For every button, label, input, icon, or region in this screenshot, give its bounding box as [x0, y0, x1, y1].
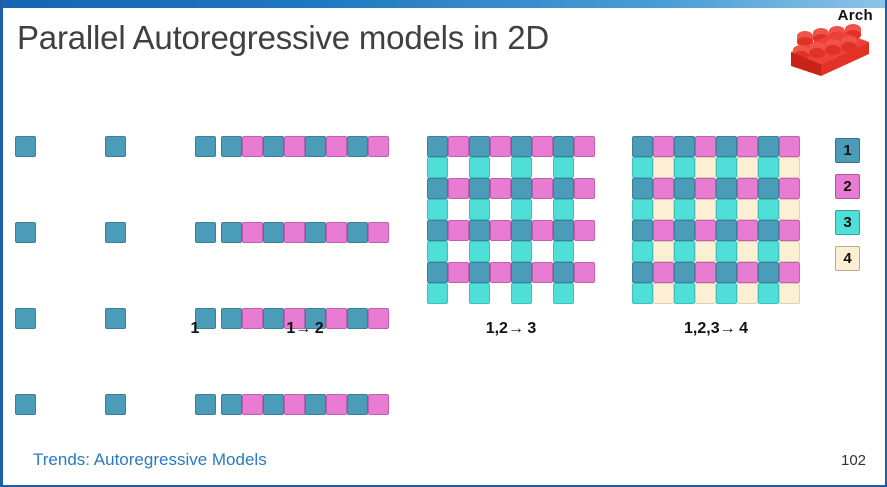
grid-cell	[653, 241, 674, 262]
grid-cell	[758, 199, 779, 220]
grid-cell	[221, 222, 242, 243]
grid-cell	[347, 394, 368, 415]
grid-cell	[105, 394, 126, 415]
grid-cell	[368, 394, 389, 415]
grid-cell	[469, 199, 490, 220]
grid-cell	[737, 157, 758, 178]
legend-item-label: 4	[843, 250, 851, 267]
grid-cell	[427, 262, 448, 283]
page-title: Parallel Autoregressive models in 2D	[17, 19, 717, 57]
grid-cell	[674, 199, 695, 220]
grid-cell	[632, 157, 653, 178]
grid-cell	[716, 178, 737, 199]
grid-cell	[469, 178, 490, 199]
grid-cell	[737, 283, 758, 304]
grid-cell	[674, 136, 695, 157]
grid-cell	[758, 283, 779, 304]
grid-cell	[737, 241, 758, 262]
grid-cell	[511, 262, 532, 283]
grid-cell	[305, 136, 326, 157]
grid-cell	[653, 283, 674, 304]
grid-cell	[695, 178, 716, 199]
grid-cell	[469, 157, 490, 178]
grid-cell	[695, 262, 716, 283]
grid-cell	[737, 262, 758, 283]
grid-cell	[779, 220, 800, 241]
grid-cell	[195, 136, 216, 157]
grid-cell	[574, 262, 595, 283]
grid-cell	[779, 199, 800, 220]
grid-cell	[674, 241, 695, 262]
legend-item-step-3: 3	[835, 210, 860, 235]
grid-cell	[490, 178, 511, 199]
caption-to: 3	[523, 320, 536, 337]
panel-4-grid	[632, 136, 800, 304]
caption-arrow-icon: →	[508, 320, 523, 337]
grid-cell	[427, 157, 448, 178]
grid-cell	[632, 283, 653, 304]
grid-cell	[758, 178, 779, 199]
grid-cell	[221, 394, 242, 415]
grid-cell	[511, 220, 532, 241]
arch-badge: Arch	[785, 4, 879, 80]
grid-cell	[695, 136, 716, 157]
grid-cell	[632, 199, 653, 220]
grid-cell	[779, 157, 800, 178]
grid-cell	[511, 136, 532, 157]
grid-cell	[427, 199, 448, 220]
grid-cell	[553, 178, 574, 199]
grid-cell	[737, 136, 758, 157]
grid-cell	[427, 220, 448, 241]
grid-cell	[469, 136, 490, 157]
grid-cell	[284, 394, 305, 415]
grid-cell	[469, 283, 490, 304]
grid-cell	[448, 178, 469, 199]
caption-to: 2	[310, 320, 323, 337]
grid-cell	[15, 136, 36, 157]
grid-cell	[532, 136, 553, 157]
grid-cell	[716, 136, 737, 157]
grid-cell	[242, 394, 263, 415]
grid-cell	[695, 157, 716, 178]
panel-4	[632, 136, 800, 304]
grid-cell	[305, 394, 326, 415]
grid-cell	[326, 222, 347, 243]
grid-cell	[553, 136, 574, 157]
grid-cell	[574, 220, 595, 241]
grid-cell	[490, 220, 511, 241]
grid-cell	[427, 178, 448, 199]
grid-cell	[758, 220, 779, 241]
grid-cell	[695, 283, 716, 304]
grid-cell	[674, 178, 695, 199]
grid-cell	[511, 241, 532, 262]
grid-cell	[716, 262, 737, 283]
grid-cell	[347, 136, 368, 157]
grid-cell	[469, 220, 490, 241]
grid-cell	[632, 220, 653, 241]
grid-cell	[632, 178, 653, 199]
grid-cell	[695, 220, 716, 241]
grid-cell	[284, 136, 305, 157]
grid-cell	[716, 241, 737, 262]
grid-cell	[779, 241, 800, 262]
grid-cell	[511, 178, 532, 199]
grid-cell	[263, 394, 284, 415]
grid-cell	[448, 220, 469, 241]
caption-to: 4	[735, 320, 748, 337]
grid-cell	[368, 136, 389, 157]
grid-cell	[105, 136, 126, 157]
grid-cell	[653, 157, 674, 178]
grid-cell	[674, 262, 695, 283]
grid-cell	[305, 222, 326, 243]
legend-item-label: 3	[843, 214, 851, 231]
grid-cell	[263, 136, 284, 157]
grid-cell	[195, 222, 216, 243]
grid-cell	[469, 262, 490, 283]
grid-cell	[427, 283, 448, 304]
caption-from: 1,2	[486, 320, 508, 337]
grid-cell	[326, 136, 347, 157]
grid-cell	[347, 222, 368, 243]
legend-item-label: 1	[843, 142, 851, 159]
grid-cell	[427, 241, 448, 262]
page-number: 102	[841, 452, 866, 469]
grid-cell	[490, 136, 511, 157]
grid-cell	[653, 178, 674, 199]
panel-2-caption: 1→ 2	[221, 320, 389, 338]
lego-brick-icon	[785, 24, 873, 76]
grid-cell	[779, 283, 800, 304]
arch-badge-label: Arch	[838, 7, 873, 24]
legend-item-step-4: 4	[835, 246, 860, 271]
grid-cell	[632, 241, 653, 262]
grid-cell	[195, 394, 216, 415]
legend-item-label: 2	[843, 178, 851, 195]
footer-label: Trends: Autoregressive Models	[33, 450, 267, 470]
grid-cell	[553, 283, 574, 304]
grid-cell	[695, 241, 716, 262]
grid-cell	[574, 178, 595, 199]
grid-cell	[368, 222, 389, 243]
grid-cell	[716, 157, 737, 178]
grid-cell	[326, 394, 347, 415]
grid-cell	[448, 262, 469, 283]
grid-cell	[105, 222, 126, 243]
grid-cell	[737, 178, 758, 199]
grid-cell	[632, 136, 653, 157]
grid-cell	[511, 283, 532, 304]
grid-cell	[532, 220, 553, 241]
panel-4-caption: 1,2,3→ 4	[632, 320, 800, 338]
grid-cell	[653, 199, 674, 220]
grid-cell	[674, 220, 695, 241]
panel-2-grid	[221, 136, 389, 480]
panel-3-caption: 1,2→ 3	[427, 320, 595, 338]
grid-cell	[553, 199, 574, 220]
grid-cell	[716, 220, 737, 241]
grid-cell	[574, 136, 595, 157]
caption-arrow-icon: →	[295, 320, 310, 337]
grid-cell	[490, 262, 511, 283]
grid-cell	[758, 136, 779, 157]
grid-cell	[737, 220, 758, 241]
panel-2	[221, 136, 389, 480]
grid-cell	[653, 136, 674, 157]
slide-top-accent-bar	[3, 0, 887, 8]
grid-cell	[779, 178, 800, 199]
grid-cell	[674, 283, 695, 304]
grid-cell	[779, 262, 800, 283]
grid-cell	[427, 136, 448, 157]
grid-cell	[469, 241, 490, 262]
grid-cell	[716, 283, 737, 304]
grid-cell	[758, 157, 779, 178]
grid-cell	[511, 199, 532, 220]
grid-cell	[263, 222, 284, 243]
grid-cell	[553, 157, 574, 178]
caption-from: 1,2,3	[684, 320, 720, 337]
grid-cell	[695, 199, 716, 220]
legend: 1234	[835, 138, 860, 271]
grid-cell	[221, 136, 242, 157]
grid-cell	[758, 262, 779, 283]
legend-item-step-1: 1	[835, 138, 860, 163]
grid-cell	[716, 199, 737, 220]
grid-cell	[632, 262, 653, 283]
grid-cell	[284, 222, 305, 243]
grid-cell	[532, 178, 553, 199]
grid-cell	[653, 220, 674, 241]
grid-cell	[532, 262, 553, 283]
caption-arrow-icon: →	[720, 320, 735, 337]
grid-cell	[653, 262, 674, 283]
grid-cell	[553, 220, 574, 241]
panel-3-grid	[427, 136, 595, 304]
caption-from: 1	[286, 320, 295, 337]
grid-cell	[242, 136, 263, 157]
grid-cell	[758, 241, 779, 262]
grid-cell	[779, 136, 800, 157]
grid-cell	[553, 262, 574, 283]
grid-cell	[15, 394, 36, 415]
panel-3	[427, 136, 595, 304]
grid-cell	[448, 136, 469, 157]
legend-item-step-2: 2	[835, 174, 860, 199]
grid-cell	[737, 199, 758, 220]
slide-canvas: Parallel Autoregressive models in 2D Arc…	[0, 0, 887, 487]
grid-cell	[511, 157, 532, 178]
grid-cell	[553, 241, 574, 262]
grid-cell	[15, 222, 36, 243]
grid-cell	[242, 222, 263, 243]
grid-cell	[674, 157, 695, 178]
